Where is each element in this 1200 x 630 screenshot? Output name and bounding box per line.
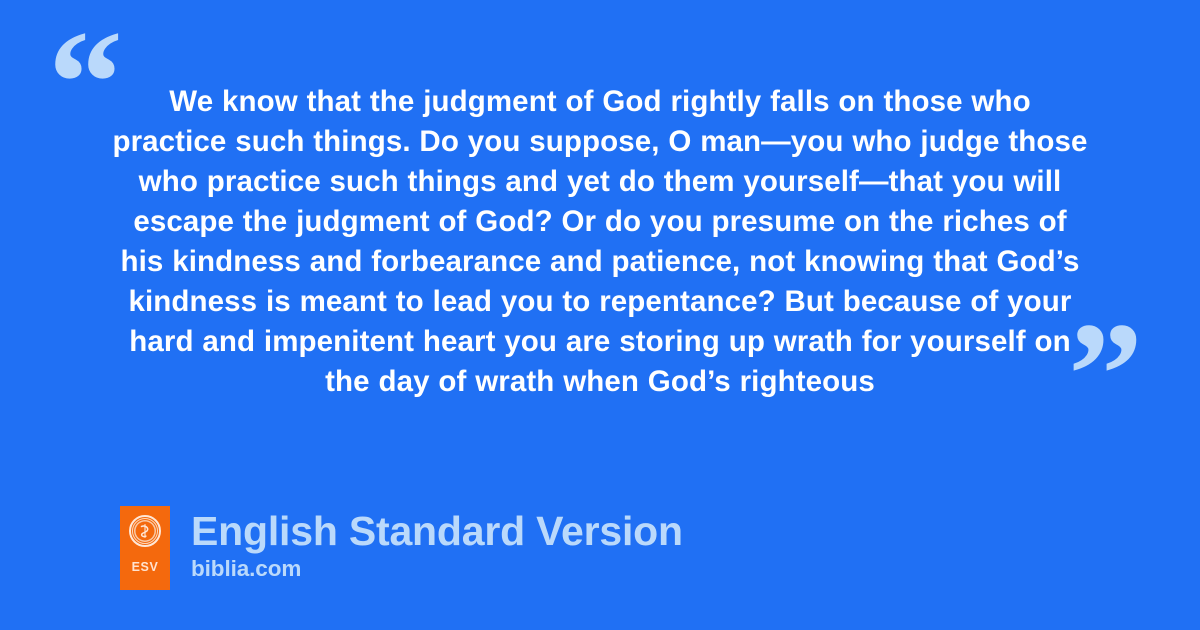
quote-region: “ We know that the judgment of God right… bbox=[0, 0, 1200, 470]
esv-logo-label: ESV bbox=[132, 561, 159, 574]
esv-logo[interactable]: ESV bbox=[120, 506, 170, 590]
quote-card: “ We know that the judgment of God right… bbox=[0, 0, 1200, 630]
quote-text: We know that the judgment of God rightly… bbox=[110, 82, 1090, 402]
brand-copy: English Standard Version biblia.com bbox=[191, 506, 683, 582]
bible-version-title: English Standard Version bbox=[191, 508, 683, 554]
brand-footer[interactable]: ESV English Standard Version biblia.com bbox=[120, 506, 683, 590]
close-quote-icon: ” bbox=[1068, 300, 1143, 450]
site-url[interactable]: biblia.com bbox=[191, 556, 683, 582]
esv-seal-icon bbox=[129, 515, 161, 547]
